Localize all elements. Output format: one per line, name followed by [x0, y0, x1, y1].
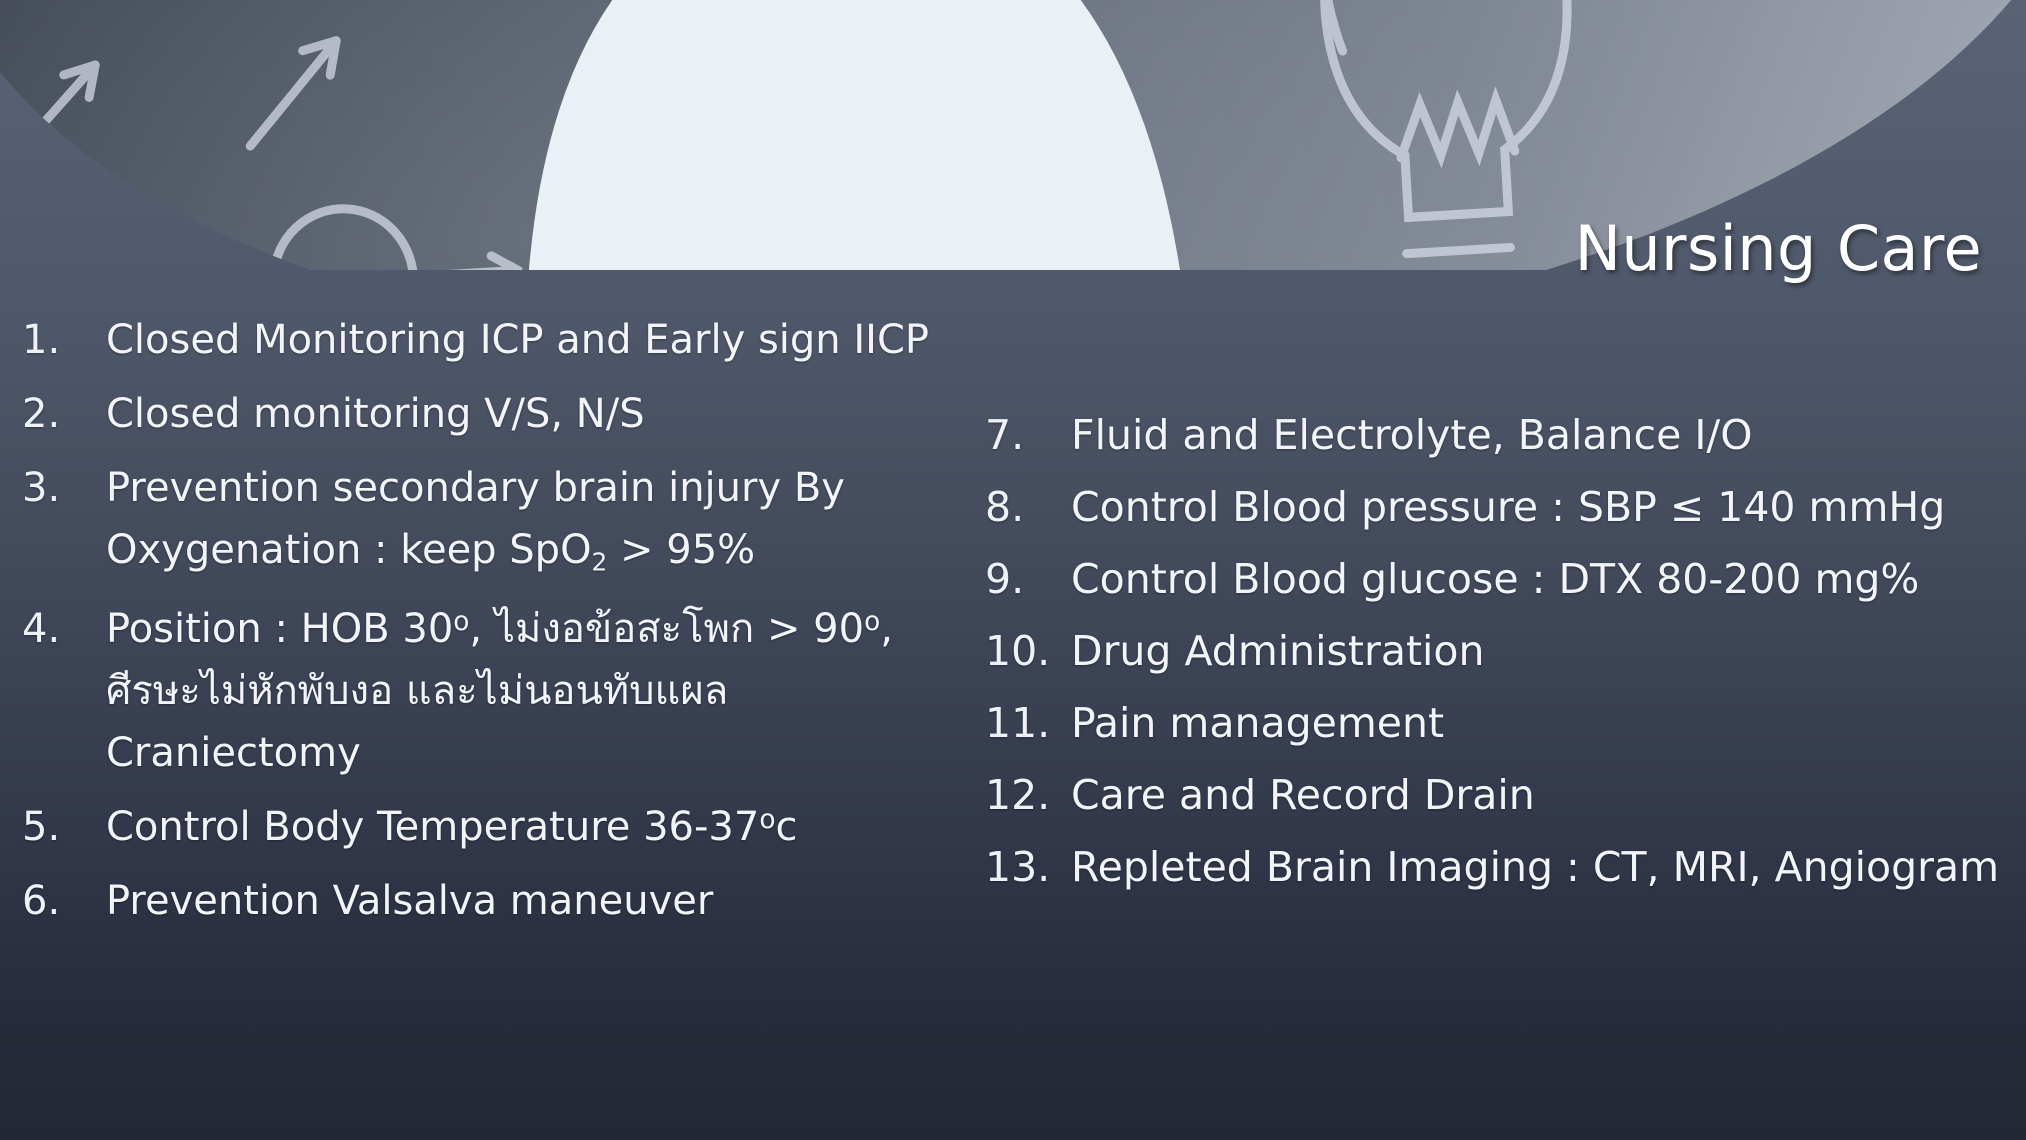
list-item-number: 9. [985, 559, 1071, 600]
list-item-number: 1. [22, 320, 106, 360]
position-suffix: , [880, 606, 893, 652]
list-item-line: Closed monitoring V/S, N/S [106, 394, 962, 434]
list-item-line-temperature: Control Body Temperature 36-37oc [106, 807, 962, 847]
list-item: 2. Closed monitoring V/S, N/S [22, 394, 962, 434]
list-item-label: Drug Administration [1071, 631, 2015, 672]
spo2-subscript: 2 [592, 547, 608, 576]
list-item-number: 11. [985, 703, 1071, 744]
list-item: 9. Control Blood glucose : DTX 80-200 mg… [985, 559, 2015, 600]
degree-sign-icon: o [453, 606, 469, 637]
list-item-number: 8. [985, 487, 1071, 528]
list-item-line-craniectomy: Craniectomy [106, 733, 962, 773]
list-item-number: 13. [985, 847, 1071, 888]
list-item-line: Closed Monitoring ICP and Early sign IIC… [106, 320, 962, 360]
slide-canvas: Nursing Care 1. Closed Monitoring ICP an… [0, 0, 2026, 1140]
list-item-label: Care and Record Drain [1071, 775, 2015, 816]
list-item-label: Fluid and Electrolyte, Balance I/O [1071, 415, 2015, 456]
list-item-number: 4. [22, 609, 106, 649]
list-item: 1. Closed Monitoring ICP and Early sign … [22, 320, 962, 360]
list-item-line-spo2: Oxygenation : keep SpO2 > 95% [106, 530, 962, 575]
list-item: 13. Repleted Brain Imaging : CT, MRI, An… [985, 847, 2015, 888]
nursing-care-list-right: 7. Fluid and Electrolyte, Balance I/O 8.… [985, 415, 2015, 919]
list-item: 7. Fluid and Electrolyte, Balance I/O [985, 415, 2015, 456]
list-item: 5. Control Body Temperature 36-37oc [22, 807, 962, 847]
position-prefix: Position : HOB 30 [106, 606, 453, 652]
list-item-body: Control Body Temperature 36-37oc [106, 807, 962, 847]
list-item: 8. Control Blood pressure : SBP ≤ 140 mm… [985, 487, 2015, 528]
temperature-suffix: c [775, 804, 797, 850]
list-item-line: Prevention Valsalva maneuver [106, 881, 962, 921]
list-item-body: Closed Monitoring ICP and Early sign IIC… [106, 320, 962, 360]
list-item: 3. Prevention secondary brain injury By … [22, 468, 962, 575]
position-thai-text: ไม่งอข้อสะโพก > 90 [495, 606, 864, 652]
spo2-prefix: Oxygenation : keep SpO [106, 527, 592, 573]
temperature-prefix: Control Body Temperature 36-37 [106, 804, 759, 850]
list-item-label: Control Blood glucose : DTX 80-200 mg% [1071, 559, 2015, 600]
list-item-label: Repleted Brain Imaging : CT, MRI, Angiog… [1071, 847, 2015, 888]
list-item-number: 10. [985, 631, 1071, 672]
list-item-number: 3. [22, 468, 106, 508]
list-item-body: Prevention secondary brain injury By Oxy… [106, 468, 962, 575]
list-item-label: Pain management [1071, 703, 2015, 744]
list-item-number: 12. [985, 775, 1071, 816]
degree-sign-icon: o [864, 606, 880, 637]
list-item-number: 2. [22, 394, 106, 434]
position-separator: , [469, 606, 494, 652]
list-item-body: Closed monitoring V/S, N/S [106, 394, 962, 434]
list-item-number: 6. [22, 881, 106, 921]
list-item-body: Prevention Valsalva maneuver [106, 881, 962, 921]
list-item-number: 7. [985, 415, 1071, 456]
list-item: 12. Care and Record Drain [985, 775, 2015, 816]
list-item-line: Prevention secondary brain injury By [106, 468, 962, 508]
list-item-label: Control Blood pressure : SBP ≤ 140 mmHg [1071, 487, 2015, 528]
list-item: 4. Position : HOB 30o, ไม่งอข้อสะโพก > 9… [22, 609, 962, 773]
list-item-line-position: Position : HOB 30o, ไม่งอข้อสะโพก > 90o, [106, 609, 962, 649]
degree-sign-icon: o [759, 804, 775, 835]
spo2-suffix: > 95% [607, 527, 755, 573]
nursing-care-list-left: 1. Closed Monitoring ICP and Early sign … [22, 320, 962, 955]
slide-title: Nursing Care [1575, 212, 1982, 285]
list-item-line-thai: ศีรษะไม่หักพับงอ และไม่นอนทับแผล [106, 671, 962, 711]
list-item: 10. Drug Administration [985, 631, 2015, 672]
list-item-number: 5. [22, 807, 106, 847]
list-item-body: Position : HOB 30o, ไม่งอข้อสะโพก > 90o,… [106, 609, 962, 773]
list-item: 11. Pain management [985, 703, 2015, 744]
list-item: 6. Prevention Valsalva maneuver [22, 881, 962, 921]
